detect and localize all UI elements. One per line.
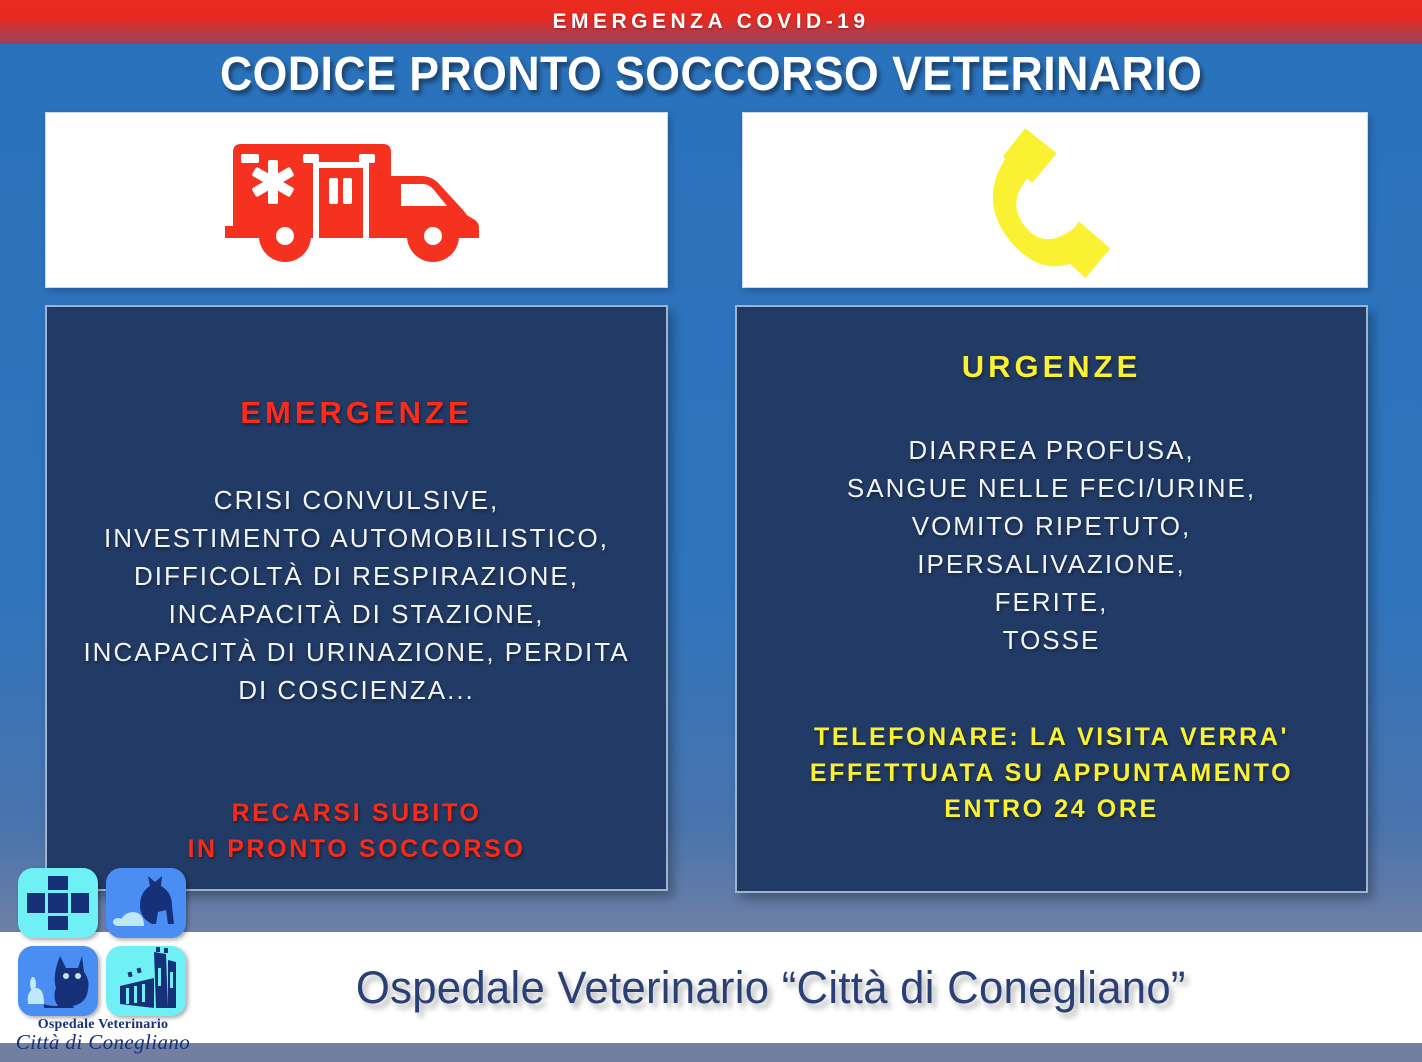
hospital-logo: Ospedale Veterinario Città di Conegliano xyxy=(12,868,194,1058)
castle-tower-icon xyxy=(106,946,186,1016)
organization-name: Ospedale Veterinario “Città di Coneglian… xyxy=(356,962,1186,1014)
dog-turtle-icon xyxy=(106,868,186,938)
footer-band: Ospedale Veterinario “Città di Coneglian… xyxy=(0,932,1422,1043)
cat-rabbit-glyph xyxy=(18,946,98,1016)
telephone-art xyxy=(743,113,1367,287)
veterinary-cross-icon xyxy=(18,868,98,938)
logo-caption-line2: Città di Conegliano xyxy=(12,1031,194,1053)
bottom-strip xyxy=(0,1043,1422,1062)
ambulance-icon xyxy=(207,130,507,270)
emergenze-call-to-action: RECARSI SUBITO IN PRONTO SOCCORSO xyxy=(65,795,648,867)
cta-line: IN PRONTO SOCCORSO xyxy=(65,831,648,867)
list-item: SANGUE NELLE FECI/URINE, xyxy=(755,469,1348,507)
dog-turtle-glyph xyxy=(106,868,186,938)
emergenze-card: EMERGENZE CRISI CONVULSIVE, INVESTIMENTO… xyxy=(45,305,668,891)
cat-rabbit-icon xyxy=(18,946,98,1016)
urgency-icon-panel xyxy=(742,112,1368,288)
urgenze-card: URGENZE DIARREA PROFUSA, SANGUE NELLE FE… xyxy=(735,305,1368,893)
list-item: INVESTIMENTO AUTOMOBILISTICO, xyxy=(65,519,648,557)
emergenze-heading: EMERGENZE xyxy=(65,395,648,431)
list-item: CRISI CONVULSIVE, xyxy=(65,481,648,519)
list-item: DIFFICOLTÀ DI RESPIRAZIONE, xyxy=(65,557,648,595)
cta-line: TELEFONARE: LA VISITA VERRA' xyxy=(755,719,1348,755)
list-item: VOMITO RIPETUTO, xyxy=(755,507,1348,545)
list-item: INCAPACITÀ DI URINAZIONE, PERDITA xyxy=(65,633,648,671)
urgenze-list: DIARREA PROFUSA, SANGUE NELLE FECI/URINE… xyxy=(755,431,1348,659)
list-item: INCAPACITÀ DI STAZIONE, xyxy=(65,595,648,633)
castle-glyph xyxy=(106,946,186,1016)
poster-canvas: EMERGENZA COVID-19 CODICE PRONTO SOCCORS… xyxy=(0,0,1422,1062)
list-item: FERITE, xyxy=(755,583,1348,621)
telephone-handset-icon xyxy=(955,120,1155,280)
cross-glyph xyxy=(18,868,98,938)
logo-caption: Ospedale Veterinario Città di Conegliano xyxy=(12,1018,194,1053)
covid-notice-band: EMERGENZA COVID-19 xyxy=(0,0,1422,44)
cta-line: EFFETTUATA SU APPUNTAMENTO xyxy=(755,755,1348,791)
cta-line: RECARSI SUBITO xyxy=(65,795,648,831)
cta-line: ENTRO 24 ORE xyxy=(755,791,1348,827)
list-item: DI COSCIENZA... xyxy=(65,671,648,709)
ambulance-art xyxy=(46,113,667,287)
list-item: IPERSALIVAZIONE, xyxy=(755,545,1348,583)
page-title: CODICE PRONTO SOCCORSO VETERINARIO xyxy=(0,46,1422,102)
covid-notice-text: EMERGENZA COVID-19 xyxy=(552,10,869,34)
urgenze-call-to-action: TELEFONARE: LA VISITA VERRA' EFFETTUATA … xyxy=(755,719,1348,827)
urgenze-heading: URGENZE xyxy=(755,349,1348,385)
emergency-icon-panel xyxy=(45,112,668,288)
page-title-text: CODICE PRONTO SOCCORSO VETERINARIO xyxy=(220,47,1202,102)
list-item: DIARREA PROFUSA, xyxy=(755,431,1348,469)
list-item: TOSSE xyxy=(755,621,1348,659)
emergenze-list: CRISI CONVULSIVE, INVESTIMENTO AUTOMOBIL… xyxy=(65,481,648,709)
logo-tile-grid xyxy=(18,868,188,1016)
